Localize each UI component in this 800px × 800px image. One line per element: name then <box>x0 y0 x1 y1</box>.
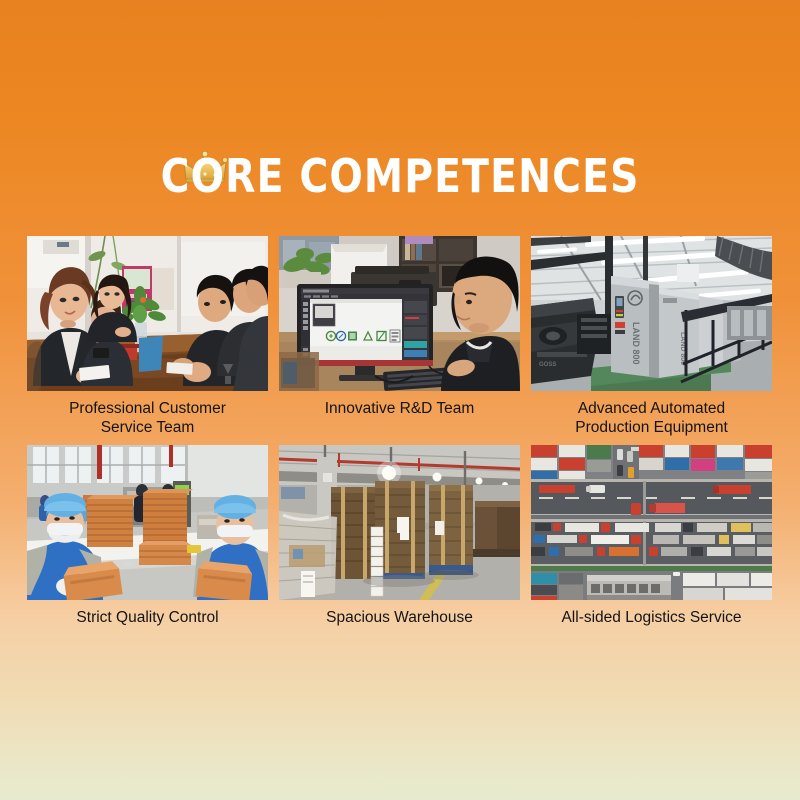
card-caption: Strict Quality Control <box>27 608 268 627</box>
svg-text:LAND 800: LAND 800 <box>631 322 641 365</box>
competence-card-all-sided-logistics-service: All-sided Logistics Service <box>531 445 772 627</box>
competence-card-advanced-automated-production-equipment: LAND 800 LAND 800 <box>531 236 772 437</box>
competence-card-strict-quality-control: Strict Quality Control <box>27 445 268 627</box>
competences-grid: Professional Customer Service Team <box>27 236 773 627</box>
quality-inspection-workers-photo <box>27 445 268 600</box>
svg-text:GOSS: GOSS <box>539 362 556 368</box>
card-caption: Advanced Automated Production Equipment <box>531 399 772 437</box>
warehouse-pallets-photo <box>279 445 520 600</box>
card-caption: All-sided Logistics Service <box>531 608 772 627</box>
competence-card-innovative-rd-team: Innovative R&D Team <box>279 236 520 437</box>
card-caption: Spacious Warehouse <box>279 608 520 627</box>
card-caption: Professional Customer Service Team <box>27 399 268 437</box>
page-title: CORE COMPETENCES <box>160 148 639 204</box>
card-caption: Innovative R&D Team <box>279 399 520 418</box>
competence-card-professional-customer-service-team: Professional Customer Service Team <box>27 236 268 437</box>
aerial-container-yard-photo <box>531 445 772 600</box>
core-competences-banner: CORE COMPETENCES <box>0 0 800 800</box>
designer-at-computer-photo <box>279 236 520 391</box>
competence-card-spacious-warehouse: Spacious Warehouse <box>279 445 520 627</box>
printing-press-machinery-photo: LAND 800 LAND 800 <box>531 236 772 391</box>
meeting-room-photo <box>27 236 268 391</box>
page-title-block: CORE COMPETENCES <box>0 148 800 204</box>
